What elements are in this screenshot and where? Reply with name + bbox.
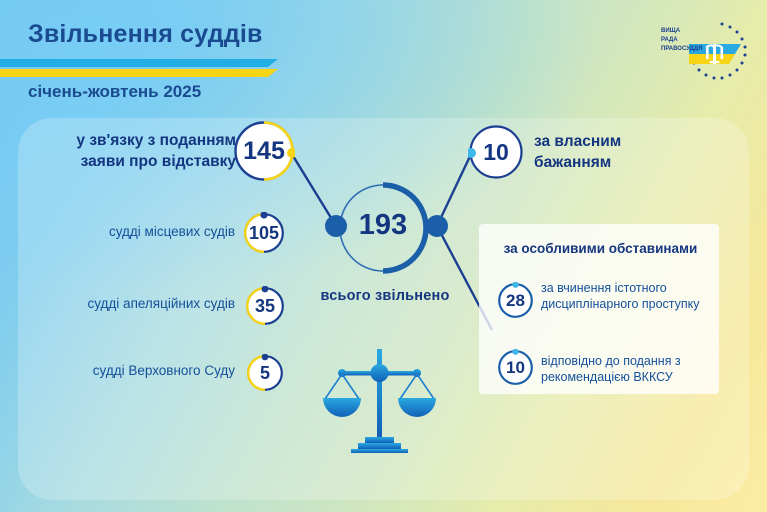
page-title: Звільнення суддів xyxy=(28,20,263,49)
own-wish-value: 10 xyxy=(468,124,524,180)
title-underline-stripes xyxy=(0,59,278,78)
total-value: 193 xyxy=(330,205,436,245)
logo-text-line1: ВИЩА xyxy=(661,28,681,34)
breakdown-node-0[interactable]: 105 xyxy=(243,212,285,254)
total-caption: всього звільнено xyxy=(310,288,460,304)
scales-of-justice-icon xyxy=(318,343,442,453)
special-node-0[interactable]: 28 xyxy=(497,282,534,319)
organization-logo: ВИЩА РАДА ПРАВОСУДДЯ xyxy=(645,16,755,88)
breakdown-value-2: 5 xyxy=(246,354,284,392)
resignation-label: у зв'язку з поданням заяви про відставку xyxy=(48,130,236,172)
resignation-value: 145 xyxy=(233,120,295,182)
logo-text-line2: РАДА xyxy=(661,37,678,43)
infographic-canvas: Звільнення суддів січень-жовтень 2025 xyxy=(0,0,767,512)
logo-text-line3: ПРАВОСУДДЯ xyxy=(661,46,703,52)
special-value-0: 28 xyxy=(497,282,534,319)
breakdown-label-2: судді Верховного Суду xyxy=(60,363,235,378)
period-subtitle: січень-жовтень 2025 xyxy=(28,82,201,102)
breakdown-label-0: судді місцевих судів xyxy=(60,224,235,239)
special-label-0: за вчинення істотного дисциплінарного пр… xyxy=(541,280,713,312)
own-wish-node[interactable]: 10 xyxy=(468,124,524,180)
breakdown-label-1: судді апеляційних судів xyxy=(60,296,235,311)
special-node-1[interactable]: 10 xyxy=(497,349,534,386)
breakdown-node-1[interactable]: 35 xyxy=(245,286,285,326)
resignation-node[interactable]: 145 xyxy=(233,120,295,182)
breakdown-value-0: 105 xyxy=(243,212,285,254)
special-circumstances-title: за особливими обставинами xyxy=(498,241,703,256)
own-wish-label: за власним бажанням xyxy=(534,131,684,173)
stripe-yellow xyxy=(0,69,278,77)
special-label-1: відповідно до подання з рекомендацією ВК… xyxy=(541,353,713,385)
breakdown-value-1: 35 xyxy=(245,286,285,326)
stripe-blue xyxy=(0,59,278,67)
breakdown-node-2[interactable]: 5 xyxy=(246,354,284,392)
special-value-1: 10 xyxy=(497,349,534,386)
